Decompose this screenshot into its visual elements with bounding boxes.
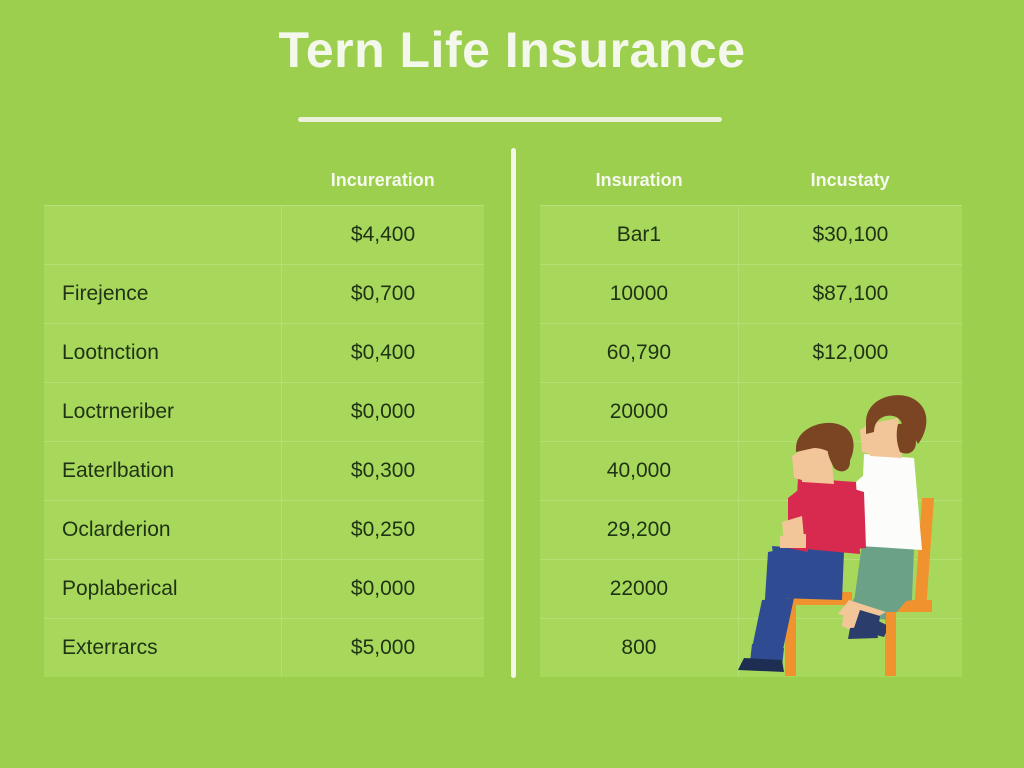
left-row-label: Loctrneriber [44, 382, 282, 441]
page-title: Tern Life Insurance [0, 22, 1024, 78]
right-row-value-b: $87,100 [738, 264, 962, 323]
left-row-value: $5,000 [282, 618, 484, 677]
left-column-header-blank [44, 156, 282, 205]
table-row[interactable]: 29,200 [540, 500, 962, 559]
table-row[interactable]: 60,790 $12,000 [540, 323, 962, 382]
right-row-value-b: $12,000 [738, 323, 962, 382]
right-row-value-a: 40,000 [540, 441, 738, 500]
right-row-value-b [738, 500, 962, 559]
left-row-label [44, 205, 282, 264]
right-table-header-row: Insuration Incustaty [540, 156, 962, 205]
table-row[interactable]: $4,400 [44, 205, 484, 264]
table-row[interactable]: Poplaberical $0,000 [44, 559, 484, 618]
right-row-value-b [738, 382, 962, 441]
vertical-divider [511, 148, 516, 678]
table-row[interactable]: 10000 $87,100 [540, 264, 962, 323]
table-row[interactable]: Bar1 $30,100 [540, 205, 962, 264]
table-row[interactable]: Oclarderion $0,250 [44, 500, 484, 559]
left-row-label: Firejence [44, 264, 282, 323]
right-row-value-b [738, 559, 962, 618]
table-row[interactable]: Exterrarcs $5,000 [44, 618, 484, 677]
left-table-header-row: Incureration [44, 156, 484, 205]
table-row[interactable]: 40,000 [540, 441, 962, 500]
left-row-value: $4,400 [282, 205, 484, 264]
left-row-value: $0,300 [282, 441, 484, 500]
left-row-label: Exterrarcs [44, 618, 282, 677]
left-table: Incureration $4,400 Firejence $0,700 Loo… [44, 156, 484, 677]
table-row[interactable]: 20000 [540, 382, 962, 441]
right-row-value-a: Bar1 [540, 205, 738, 264]
left-row-value: $0,700 [282, 264, 484, 323]
table-row[interactable]: Loctrneriber $0,000 [44, 382, 484, 441]
table-row[interactable]: 800 [540, 618, 962, 677]
left-row-value: $0,000 [282, 382, 484, 441]
left-row-value: $0,400 [282, 323, 484, 382]
right-row-value-a: 29,200 [540, 500, 738, 559]
right-column-header-incustaty: Incustaty [738, 156, 962, 205]
title-underline-rule [298, 117, 722, 122]
left-row-label: Eaterlbation [44, 441, 282, 500]
right-row-value-a: 10000 [540, 264, 738, 323]
left-table-block: Incureration $4,400 Firejence $0,700 Loo… [44, 156, 484, 677]
left-column-header-incureration: Incureration [282, 156, 484, 205]
left-row-value: $0,000 [282, 559, 484, 618]
right-table-block: Insuration Incustaty Bar1 $30,100 10000 … [540, 156, 962, 677]
right-row-value-b: $30,100 [738, 205, 962, 264]
right-row-value-b [738, 618, 962, 677]
table-row[interactable]: 22000 [540, 559, 962, 618]
right-row-value-a: 800 [540, 618, 738, 677]
table-row[interactable]: Eaterlbation $0,300 [44, 441, 484, 500]
left-row-label: Lootnction [44, 323, 282, 382]
left-row-label: Poplaberical [44, 559, 282, 618]
left-row-label: Oclarderion [44, 500, 282, 559]
right-row-value-a: 22000 [540, 559, 738, 618]
left-row-value: $0,250 [282, 500, 484, 559]
right-table: Insuration Incustaty Bar1 $30,100 10000 … [540, 156, 962, 677]
table-row[interactable]: Lootnction $0,400 [44, 323, 484, 382]
right-row-value-b [738, 441, 962, 500]
right-row-value-a: 60,790 [540, 323, 738, 382]
table-row[interactable]: Firejence $0,700 [44, 264, 484, 323]
right-row-value-a: 20000 [540, 382, 738, 441]
right-column-header-insuration: Insuration [540, 156, 738, 205]
page-title-container: Tern Life Insurance [0, 22, 1024, 78]
